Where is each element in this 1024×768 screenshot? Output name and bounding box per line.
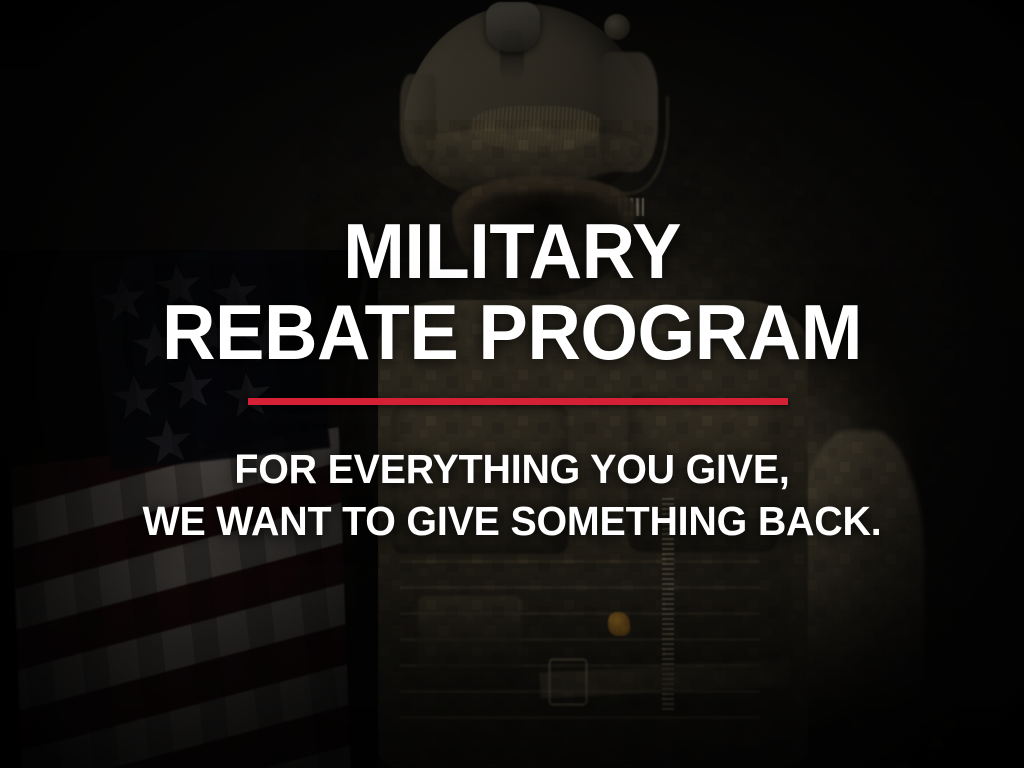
subheadline-line-2: WE WANT TO GIVE SOMETHING BACK.	[20, 498, 1003, 545]
subheadline-line-1: FOR EVERYTHING YOU GIVE,	[20, 446, 1003, 493]
headline-line-1: MILITARY	[26, 216, 999, 288]
red-divider-rule	[248, 398, 788, 405]
military-rebate-poster: MILITARY REBATE PROGRAM FOR EVERYTHING Y…	[0, 0, 1024, 768]
headline-line-2: REBATE PROGRAM	[26, 297, 999, 369]
poster-text-block: MILITARY REBATE PROGRAM FOR EVERYTHING Y…	[0, 0, 1024, 768]
